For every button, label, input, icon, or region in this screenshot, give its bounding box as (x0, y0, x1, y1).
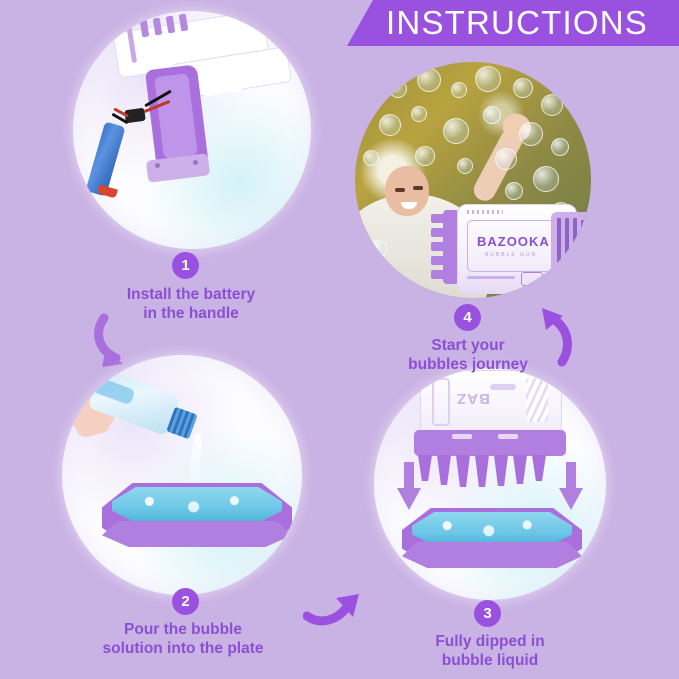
gun-vent-icon (140, 20, 150, 38)
gun-vent-icon (153, 18, 163, 36)
step-3-number: 3 (474, 600, 501, 627)
down-arrow-right-icon (558, 462, 584, 512)
arrow-2-to-3-icon (303, 588, 369, 632)
down-arrow-left-icon (396, 462, 422, 512)
head-detail (432, 378, 450, 426)
head-detail (490, 384, 516, 390)
step-4-caption: Start your bubbles journey (348, 336, 588, 374)
fan-bar (557, 218, 561, 280)
step-3-illustration: BAZ (374, 368, 606, 600)
nozzle-tooth (431, 256, 445, 265)
nozzle-tooth (494, 455, 508, 486)
bubble (505, 182, 523, 200)
instructions-banner: INSTRUCTIONS (347, 0, 679, 46)
screw-icon (155, 163, 160, 168)
bubble (415, 146, 435, 166)
tray-liquid (412, 512, 572, 546)
product-subtitle-label: BUBBLE GUN (485, 252, 537, 258)
bubble (533, 166, 559, 192)
screw-icon (193, 160, 198, 165)
bubble (443, 118, 469, 144)
bubble-gun-battery-art (73, 11, 311, 249)
gun-vent-icon (179, 14, 189, 32)
tray-base (102, 521, 292, 547)
fan-bar (573, 218, 577, 282)
nozzle-tooth (475, 455, 489, 487)
product-brand-label: BAZOOKA (477, 234, 550, 249)
step-2-number: 2 (172, 588, 199, 615)
gun-vent-icon (166, 16, 176, 34)
nozzle-tooth (431, 242, 445, 251)
bubble (541, 94, 563, 116)
nozzle-plate (414, 430, 566, 456)
bubble (411, 106, 427, 122)
nozzle-plate-detail (498, 434, 518, 439)
bubble (475, 66, 501, 92)
bubble (519, 122, 543, 146)
bubble (417, 68, 441, 92)
bubble (389, 80, 407, 98)
fan-bar (589, 224, 591, 276)
nozzle-brand-label: BAZ (456, 390, 490, 407)
lifestyle-photo: BAZOOKA BUBBLE GUN (355, 62, 591, 298)
nozzle-tooth (431, 228, 445, 237)
bubble (369, 240, 387, 258)
gun-detail (467, 276, 515, 279)
head-detail (526, 378, 548, 422)
step-4-illustration: BAZOOKA BUBBLE GUN (355, 62, 591, 298)
dip-nozzle-art: BAZ (374, 368, 606, 600)
bubble (551, 138, 569, 156)
bubble (363, 150, 379, 166)
step-1-number: 1 (172, 252, 199, 279)
step-2-caption: Pour the bubble solution into the plate (52, 620, 314, 658)
pour-solution-art (62, 355, 302, 595)
tray-base (402, 542, 582, 568)
nozzle-plate-detail (452, 434, 472, 439)
step-1-illustration (73, 11, 311, 249)
gun-detail (467, 210, 503, 214)
nozzle-tooth (431, 270, 445, 279)
step-2-illustration (62, 355, 302, 595)
nozzle-tooth (456, 455, 470, 487)
nozzle-tooth (431, 214, 445, 223)
nozzle-tooth (513, 455, 527, 484)
fan-bar (581, 220, 585, 280)
step-3-caption: Fully dipped in bubble liquid (368, 632, 612, 670)
bubble (451, 82, 467, 98)
nozzle-tooth (437, 455, 451, 485)
fan-bar (565, 218, 569, 282)
step-4-number: 4 (454, 304, 481, 331)
girl-eye (413, 186, 423, 190)
bubble (483, 106, 501, 124)
battery (85, 122, 125, 197)
bubble (379, 114, 401, 136)
gun-detail (521, 272, 543, 286)
nozzle-tooth (532, 455, 546, 481)
tray-liquid (112, 487, 282, 523)
page-title: INSTRUCTIONS (378, 4, 648, 42)
bubble (513, 78, 533, 98)
girl-eye (395, 188, 405, 192)
bubble (457, 158, 473, 174)
battery-terminal (97, 185, 118, 199)
bubble (495, 148, 517, 170)
instructions-infographic: INSTRUCTIONS (0, 0, 679, 679)
